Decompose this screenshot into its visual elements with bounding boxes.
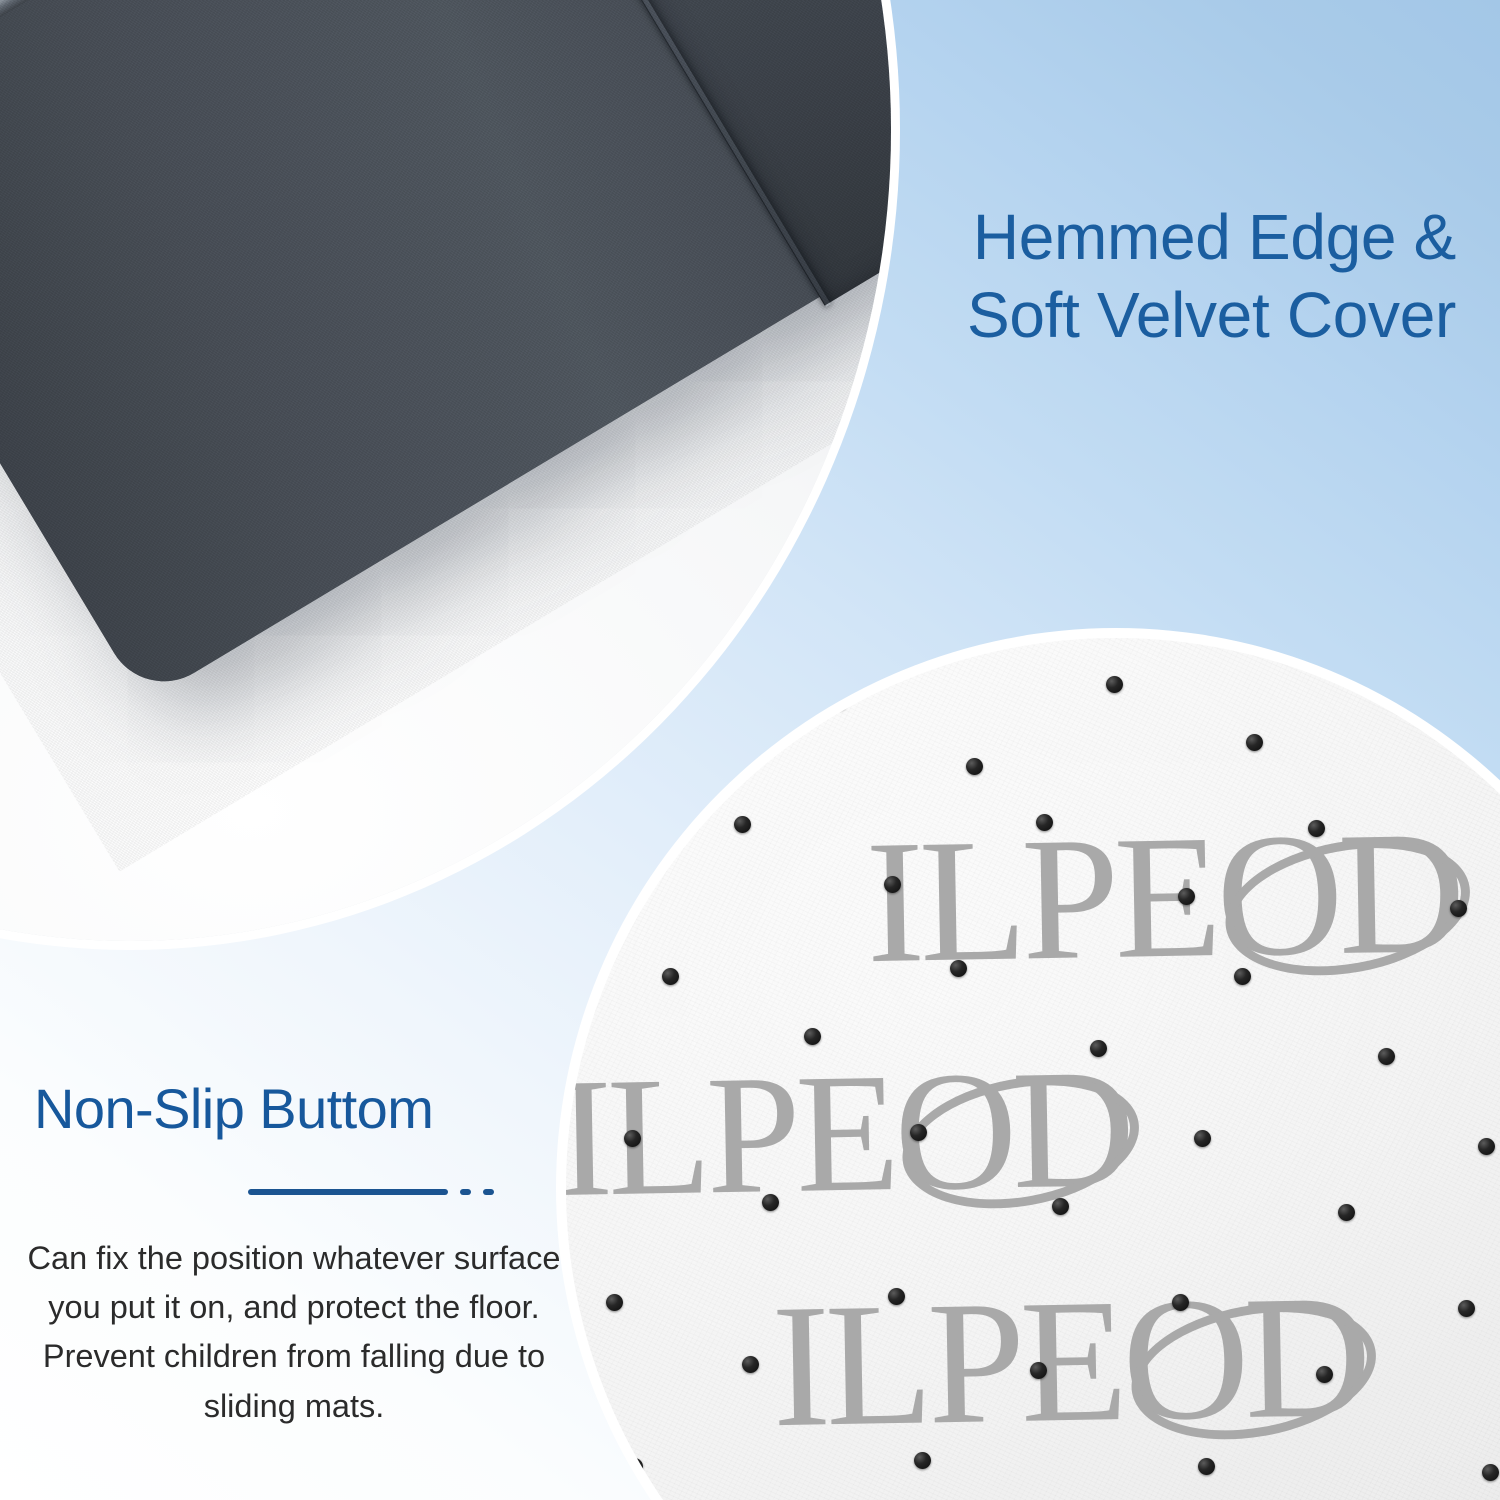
anti-slip-dot xyxy=(910,1124,927,1141)
anti-slip-dot xyxy=(1030,1362,1047,1379)
brand-watermark-text-2: ILPEOD xyxy=(566,1034,1131,1232)
anti-slip-dot xyxy=(888,1288,905,1305)
anti-slip-dot xyxy=(1052,1198,1069,1215)
headline-line-1: Hemmed Edge & xyxy=(736,198,1456,276)
anti-slip-dot xyxy=(1090,1040,1107,1057)
anti-slip-dot xyxy=(884,876,901,893)
anti-slip-dot xyxy=(1378,1048,1395,1065)
feature-title: Non-Slip Buttom xyxy=(18,1078,570,1140)
feature-body: Can fix the position whatever surface yo… xyxy=(18,1234,570,1432)
anti-slip-dot xyxy=(1172,1294,1189,1311)
anti-slip-dot xyxy=(606,1294,623,1311)
headline-line-2: Soft Velvet Cover xyxy=(736,276,1456,354)
anti-slip-dot xyxy=(1316,1366,1333,1383)
brand-watermark-2: ILPEOD xyxy=(566,1043,1131,1223)
feature-body-line-3: Prevent children from falling due to xyxy=(18,1332,570,1381)
anti-slip-dot xyxy=(1246,734,1263,751)
divider-dash-1 xyxy=(460,1189,471,1195)
anti-slip-dot xyxy=(1194,1130,1211,1147)
divider-dash-2 xyxy=(483,1189,494,1195)
anti-slip-dot xyxy=(1450,900,1467,917)
brand-watermark-text-3: ILPEOD xyxy=(770,1259,1367,1464)
anti-slip-dot xyxy=(1308,820,1325,837)
anti-slip-dot xyxy=(966,758,983,775)
anti-slip-dot xyxy=(762,1194,779,1211)
anti-slip-dot xyxy=(1458,1300,1475,1317)
anti-slip-dot xyxy=(1478,1138,1495,1155)
anti-slip-dot xyxy=(1036,814,1053,831)
feature-body-line-1: Can fix the position whatever surface xyxy=(18,1234,570,1283)
anti-slip-dot xyxy=(1198,1458,1215,1475)
anti-slip-dot xyxy=(626,1458,643,1475)
feature-divider xyxy=(18,1184,570,1192)
anti-slip-dot xyxy=(624,1130,641,1147)
anti-slip-dot xyxy=(742,1356,759,1373)
anti-slip-dot xyxy=(1496,766,1500,783)
anti-slip-dot xyxy=(1234,968,1251,985)
anti-slip-dot xyxy=(804,1028,821,1045)
headline: Hemmed Edge & Soft Velvet Cover xyxy=(736,198,1456,354)
feature-block: Non-Slip Buttom Can fix the position wha… xyxy=(18,1078,570,1431)
feature-body-line-4: sliding mats. xyxy=(18,1382,570,1431)
anti-slip-dot xyxy=(1372,682,1389,699)
feature-body-line-2: you put it on, and protect the floor. xyxy=(18,1283,570,1332)
anti-slip-dot xyxy=(914,1452,931,1469)
anti-slip-dot xyxy=(950,960,967,977)
anti-slip-dot xyxy=(734,816,751,833)
anti-slip-dot xyxy=(662,968,679,985)
anti-slip-dot xyxy=(831,693,848,710)
brand-watermark-3: ILPEOD xyxy=(771,1269,1368,1455)
anti-slip-dot xyxy=(1178,888,1195,905)
anti-slip-dot xyxy=(1482,1464,1499,1481)
divider-bar xyxy=(248,1189,448,1195)
product-feature-canvas: ILPEOD ILPEOD ILPEOD Hemmed Edge & Soft … xyxy=(0,0,1500,1500)
anti-slip-dot xyxy=(1106,676,1123,693)
anti-slip-dot xyxy=(1338,1204,1355,1221)
